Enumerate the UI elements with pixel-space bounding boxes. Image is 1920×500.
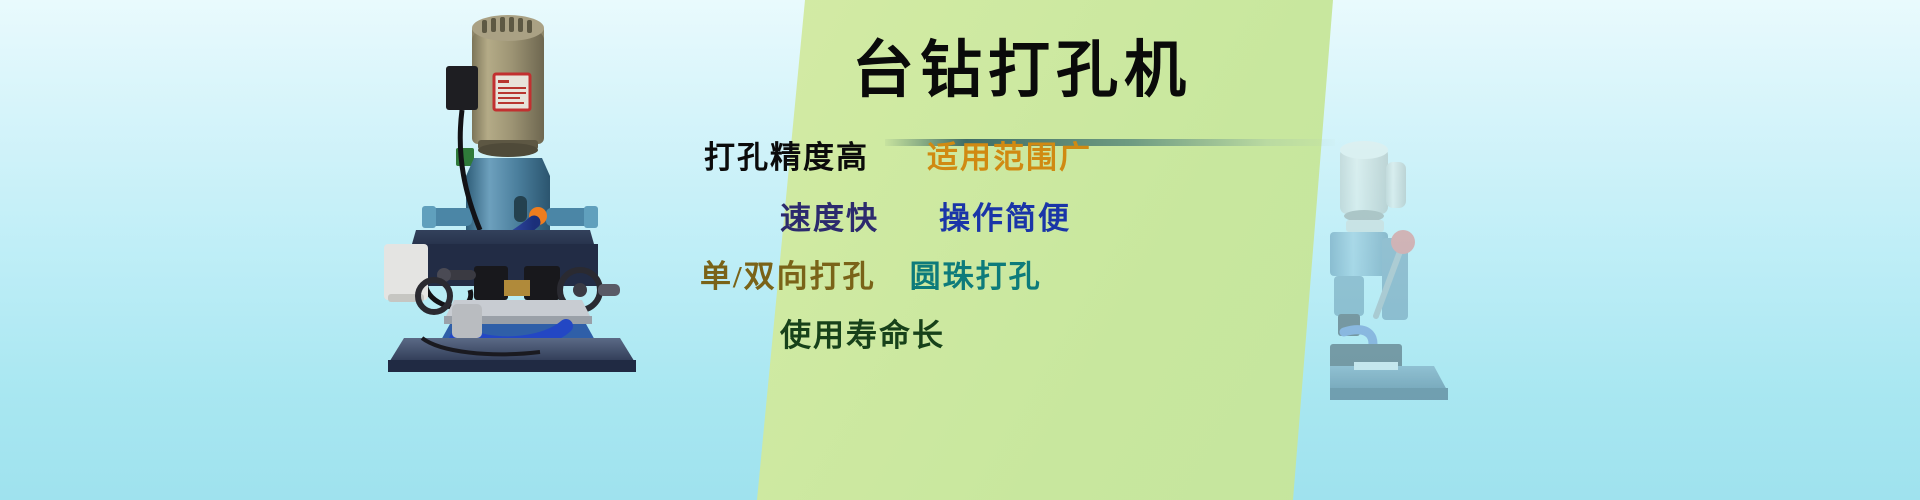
product-photo-secondary <box>1330 126 1535 411</box>
feature-row-4: 使用寿命长 <box>780 320 945 351</box>
page-title: 台钻打孔机 <box>762 40 1282 102</box>
promo-banner: 台钻打孔机 打孔精度高 适用范围广 速度快 操作简便 单/双向打孔 圆珠打孔 使… <box>0 0 1920 500</box>
feature-item-2: 速度快 <box>780 203 879 234</box>
feature-row-2: 速度快 操作简便 <box>780 203 1071 234</box>
feature-item-0: 打孔精度高 <box>704 142 869 173</box>
feature-row-1: 打孔精度高 适用范围广 <box>704 142 1092 173</box>
feature-list: 打孔精度高 适用范围广 速度快 操作简便 单/双向打孔 圆珠打孔 使用寿命长 <box>660 130 1340 370</box>
feature-item-4: 单/双向打孔 <box>700 261 876 292</box>
feature-item-1: 适用范围广 <box>927 142 1092 173</box>
feature-item-3: 操作简便 <box>939 203 1071 234</box>
product-photo-primary <box>370 8 660 373</box>
feature-row-3: 单/双向打孔 圆珠打孔 <box>700 261 1042 292</box>
feature-item-5: 圆珠打孔 <box>910 261 1042 292</box>
feature-item-6: 使用寿命长 <box>780 320 945 351</box>
